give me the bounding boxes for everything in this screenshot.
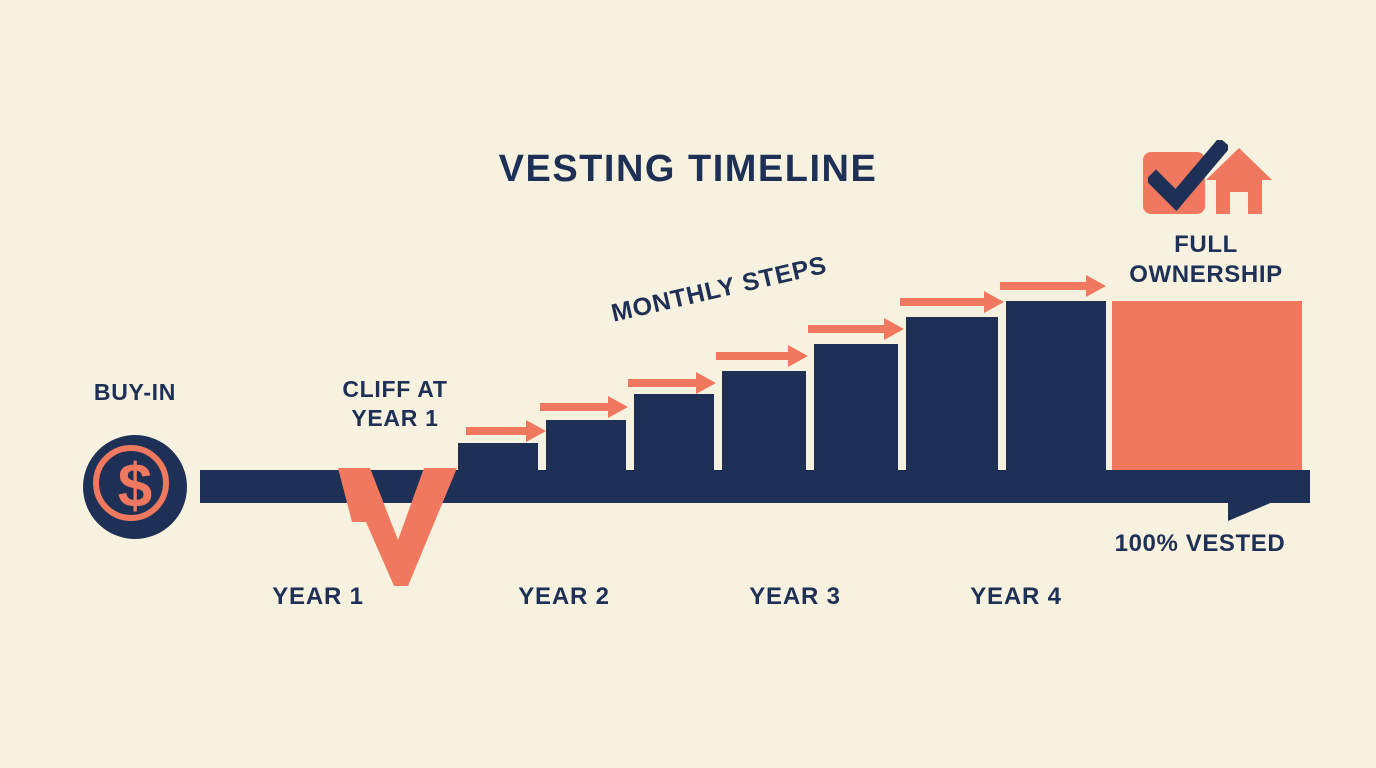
- year-label-4: YEAR 4: [926, 583, 1106, 611]
- arrow-head: [696, 372, 716, 394]
- arrow-head: [526, 420, 546, 442]
- full-ownership-label: FULL OWNERSHIP: [1096, 230, 1316, 290]
- arrow-shaft: [1000, 282, 1088, 290]
- buy-in-label: BUY-IN: [60, 379, 210, 406]
- arrow-shaft: [540, 403, 610, 411]
- cliff-label: CLIFF AT YEAR 1: [305, 375, 485, 433]
- step-arrow-icon: [466, 420, 550, 442]
- year-label-2: YEAR 2: [474, 583, 654, 611]
- step-arrow-icon: [808, 318, 908, 340]
- arrow-shaft: [628, 379, 698, 387]
- zigzag-cliff-icon: [330, 462, 465, 587]
- house-icon: [1206, 146, 1272, 214]
- step-arrow-icon: [900, 291, 1008, 313]
- arrow-shaft: [716, 352, 790, 360]
- full-ownership-block: [1112, 301, 1302, 470]
- arrow-shaft: [808, 325, 886, 333]
- step-arrow-icon: [628, 372, 720, 394]
- step-arrow-icon: [1000, 275, 1110, 297]
- vesting-bar: [546, 420, 626, 470]
- vesting-bar: [634, 394, 714, 470]
- vesting-bar: [906, 317, 998, 470]
- vesting-bar: [1006, 301, 1106, 470]
- full-ownership-line1: FULL: [1174, 231, 1238, 258]
- vesting-bar: [722, 371, 806, 470]
- arrow-head: [608, 396, 628, 418]
- dollar-sign-icon: $: [83, 435, 187, 539]
- cliff-label-line2: YEAR 1: [351, 405, 438, 431]
- vesting-bar: [814, 344, 898, 470]
- arrow-head: [884, 318, 904, 340]
- step-arrow-icon: [716, 345, 812, 367]
- arrow-head: [788, 345, 808, 367]
- year-label-1: YEAR 1: [228, 583, 408, 611]
- monthly-steps-label: MONTHLY STEPS: [609, 251, 830, 329]
- step-arrow-icon: [540, 396, 632, 418]
- cliff-label-line1: CLIFF AT: [342, 376, 447, 402]
- arrow-shaft: [900, 298, 986, 306]
- full-ownership-line2: OWNERSHIP: [1129, 261, 1282, 288]
- infographic-canvas: VESTING TIMELINE BUY-IN $ CLIFF AT YEAR …: [0, 0, 1376, 768]
- vested-label: 100% VESTED: [1090, 530, 1310, 558]
- year-label-3: YEAR 3: [705, 583, 885, 611]
- arrow-shaft: [466, 427, 528, 435]
- vesting-bar: [458, 443, 538, 470]
